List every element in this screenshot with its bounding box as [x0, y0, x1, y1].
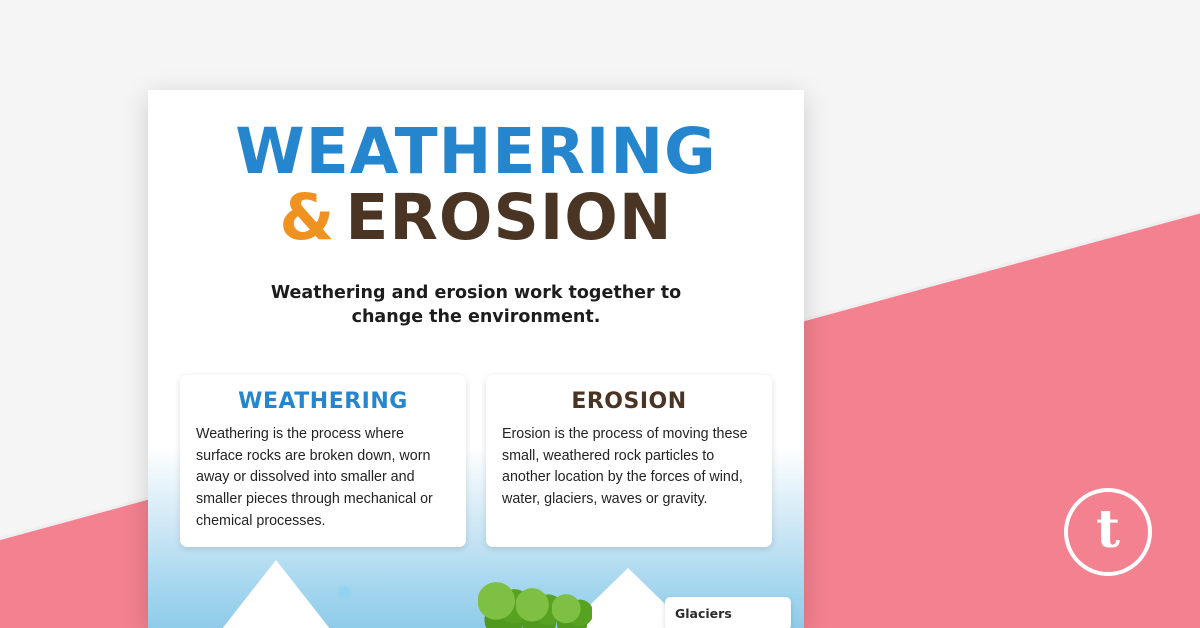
ampersand-glyph: &: [279, 181, 335, 254]
definition-card-erosion: EROSION Erosion is the process of moving…: [486, 375, 772, 547]
card-body-erosion: Erosion is the process of moving these s…: [502, 424, 756, 511]
card-title-erosion: EROSION: [502, 389, 756, 414]
page-title-erosion: EROSION: [345, 181, 672, 254]
card-body-weathering: Weathering is the process where surface …: [196, 424, 450, 533]
poster-sheet: ✺ Glaciers WEATHERING &EROSION Weatherin…: [148, 90, 804, 628]
mountain-left-shape: [218, 560, 334, 628]
teach-starter-logo: t: [1064, 488, 1152, 576]
poster-subtitle: Weathering and erosion work together to …: [238, 282, 714, 329]
card-title-weathering: WEATHERING: [196, 389, 450, 414]
page-title-line1: WEATHERING: [148, 122, 804, 182]
poster-title-block: WEATHERING &EROSION: [148, 122, 804, 248]
definition-card-weathering: WEATHERING Weathering is the process whe…: [180, 375, 466, 547]
page-title-line2: &EROSION: [148, 188, 804, 248]
dragonfly-icon: ✺: [336, 584, 366, 602]
logo-glyph: t: [1068, 492, 1148, 572]
tree-icon: [552, 594, 592, 628]
glaciers-label: Glaciers: [665, 597, 791, 628]
